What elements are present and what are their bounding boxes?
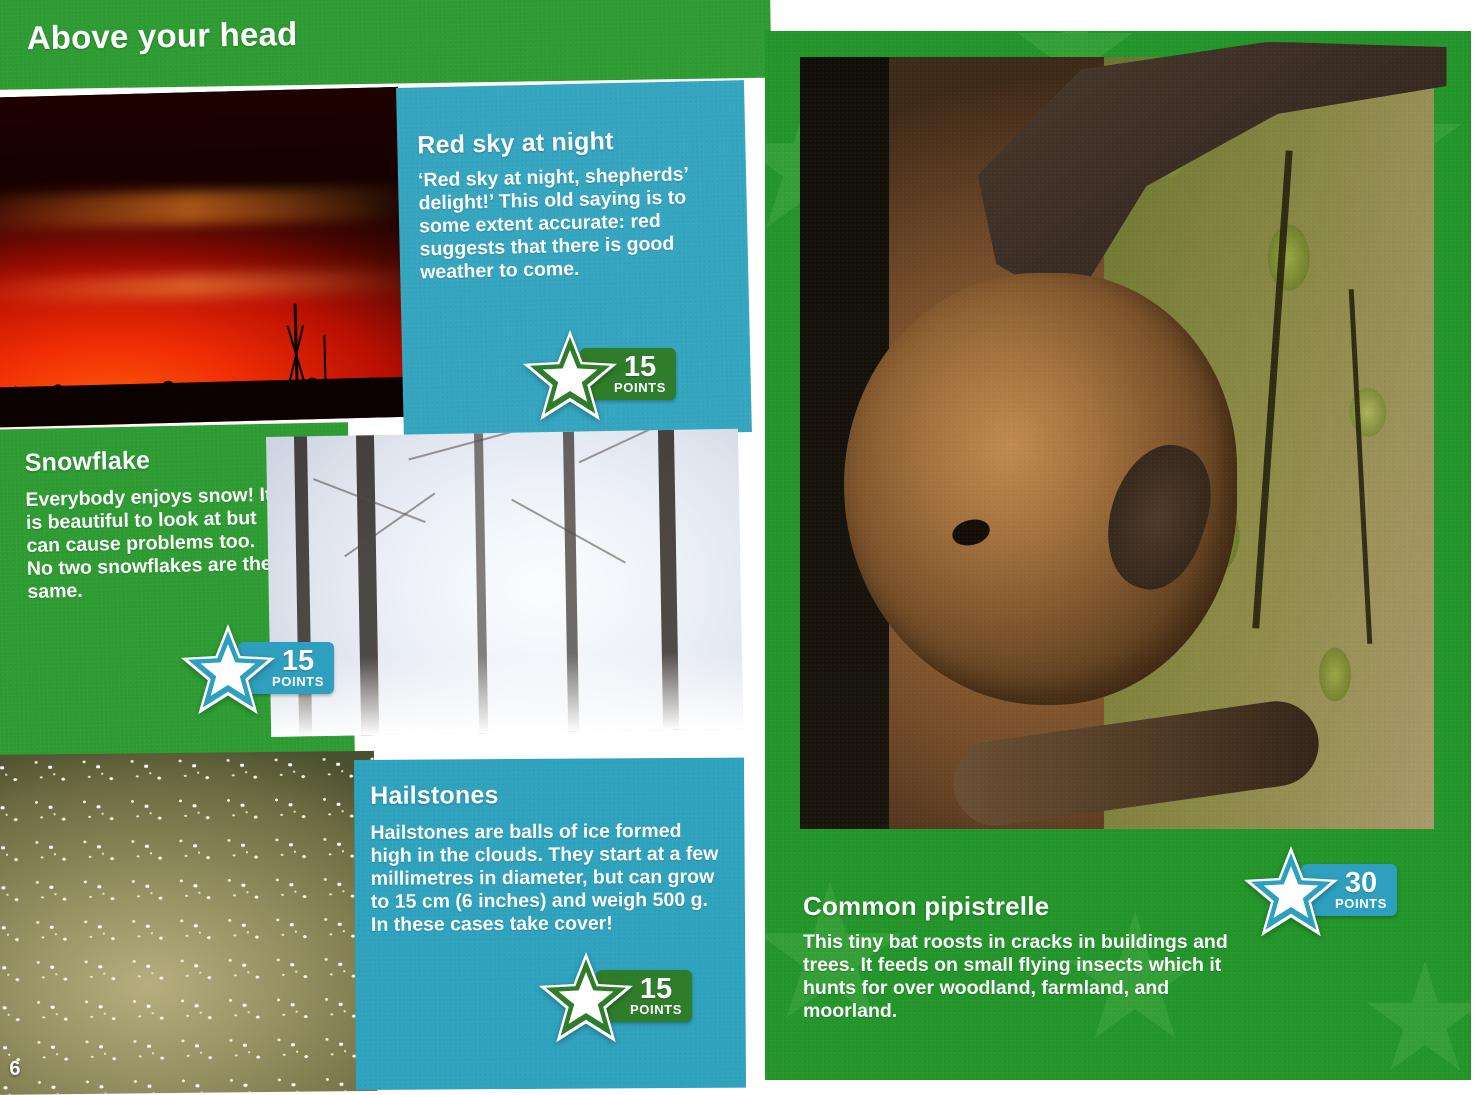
entry-body-common-pipistrelle: This tiny bat roosts in cracks in buildi… <box>803 931 1253 1023</box>
branch <box>578 429 706 464</box>
hailstone-texture <box>0 751 378 1095</box>
points-value: 30 <box>1345 870 1377 897</box>
pylon-silhouette-icon <box>293 303 298 383</box>
points-value: 15 <box>282 648 314 675</box>
right-page: TOP SPOT! Common pipistrelle This tiny b… <box>765 31 1471 1080</box>
star-icon <box>1243 846 1339 940</box>
star-icon <box>522 330 618 424</box>
red-sunset-sky-photo <box>0 87 406 428</box>
hailstones-on-grass-photo: 6 <box>0 751 378 1095</box>
pole-silhouette-icon <box>324 335 327 383</box>
points-value: 15 <box>624 354 656 381</box>
entry-title-red-sky: Red sky at night <box>417 125 718 161</box>
points-unit: POINTS <box>614 381 666 394</box>
snowy-woodland-photo <box>266 429 743 737</box>
magazine-spread: Above your head Red sky at night ‘Red sk… <box>0 0 1477 1080</box>
points-value: 15 <box>640 976 672 1003</box>
common-pipistrelle-bat-photo <box>800 57 1434 829</box>
entry-title-snowflake: Snowflake <box>24 443 305 478</box>
entry-title-common-pipistrelle: Common pipistrelle <box>803 891 1273 922</box>
section-header-band: Above your head <box>0 0 771 90</box>
star-icon <box>180 624 276 718</box>
page-title: Above your head <box>26 9 667 57</box>
page-number: 6 <box>9 1058 20 1081</box>
points-unit: POINTS <box>272 675 324 688</box>
snow-ground <box>270 651 743 737</box>
points-unit: POINTS <box>1335 897 1387 910</box>
entry-body-snowflake: Everybody enjoys snow! It is beautiful t… <box>25 484 277 604</box>
entry-body-hailstones: Hailstones are balls of ice formed high … <box>370 820 721 937</box>
cloud-streak-lower <box>0 268 406 303</box>
left-page: Above your head Red sky at night ‘Red sk… <box>0 0 740 1080</box>
star-icon <box>538 952 634 1046</box>
entry-title-hailstones: Hailstones <box>370 780 710 811</box>
points-unit: POINTS <box>630 1003 682 1016</box>
entry-body-red-sky: ‘Red sky at night, shepherds’ delight!’ … <box>418 163 721 285</box>
treeline-silhouette <box>0 377 406 428</box>
